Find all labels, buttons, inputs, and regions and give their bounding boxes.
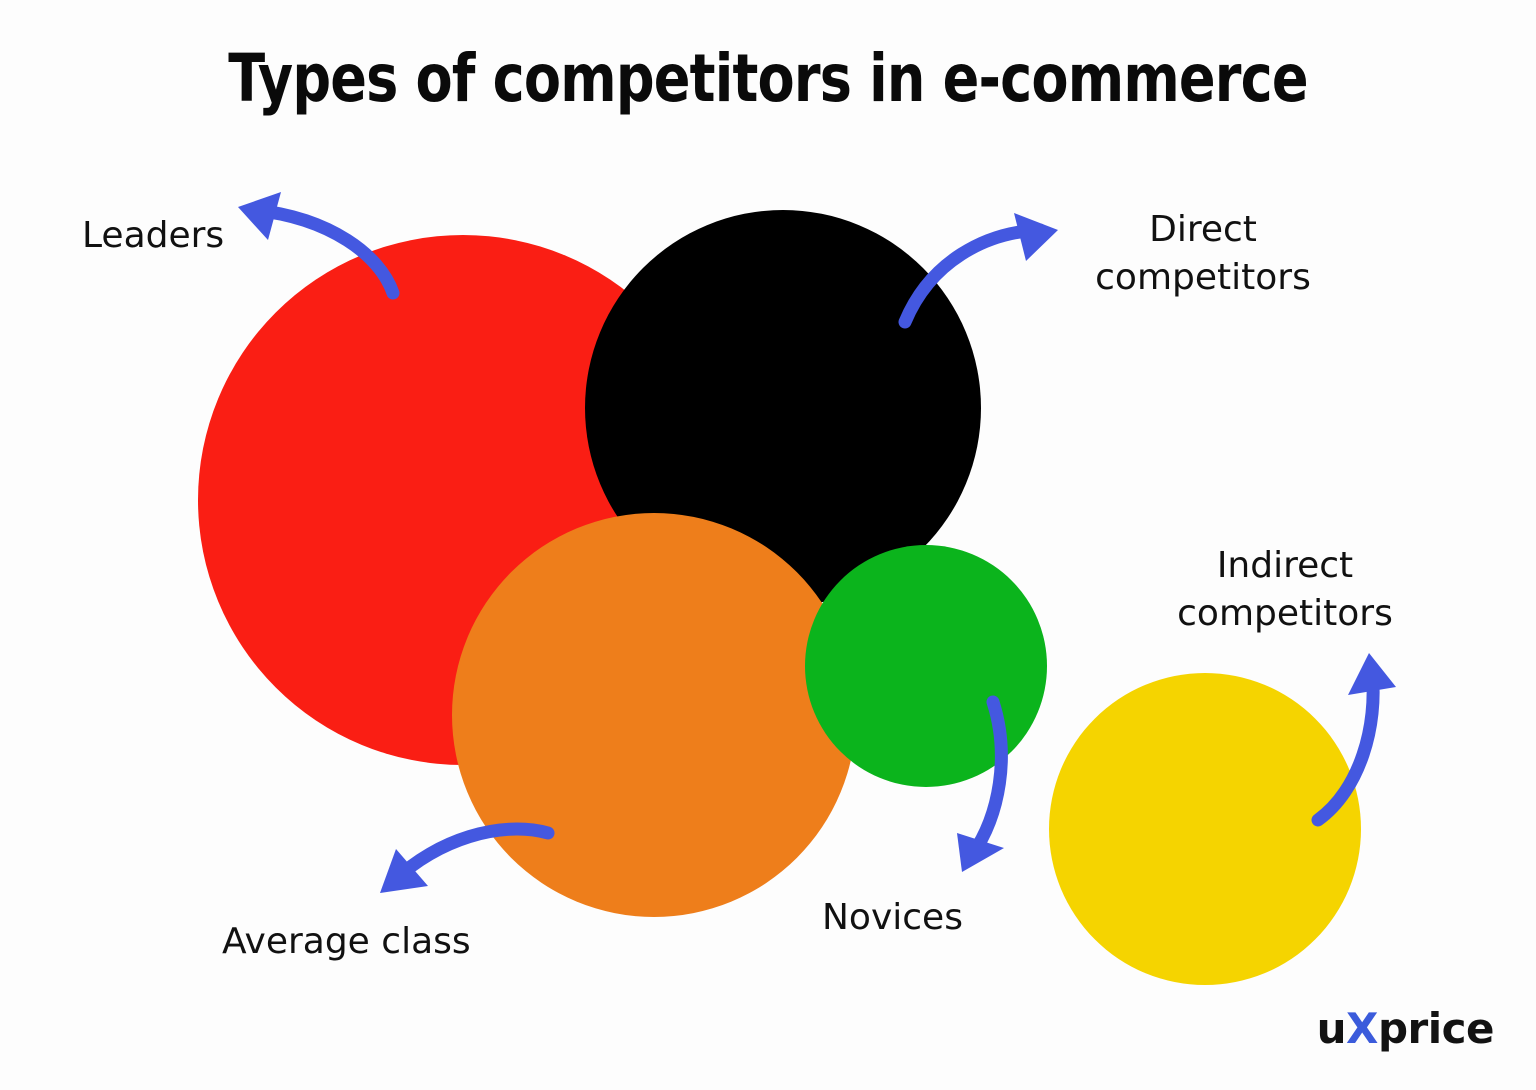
uxprice-logo: uXprice bbox=[1317, 1006, 1494, 1052]
bubble-novices bbox=[805, 545, 1047, 787]
label-novices: Novices bbox=[822, 894, 963, 942]
bubble-indirect-competitors bbox=[1049, 673, 1361, 985]
page-title: Types of competitors in e-commerce bbox=[138, 40, 1398, 118]
label-leaders: Leaders bbox=[82, 212, 224, 260]
label-average-class: Average class bbox=[222, 918, 471, 966]
logo-prefix: u bbox=[1317, 1004, 1346, 1053]
infographic-canvas: Types of competitors in e-commerce bbox=[0, 0, 1536, 1090]
label-indirect-competitors: Indirect competitors bbox=[1140, 542, 1430, 638]
logo-accent-x: X bbox=[1346, 1004, 1378, 1053]
bubble-average-class bbox=[452, 513, 856, 917]
logo-suffix: price bbox=[1378, 1004, 1494, 1053]
label-direct-competitors: Direct competitors bbox=[1073, 206, 1333, 302]
